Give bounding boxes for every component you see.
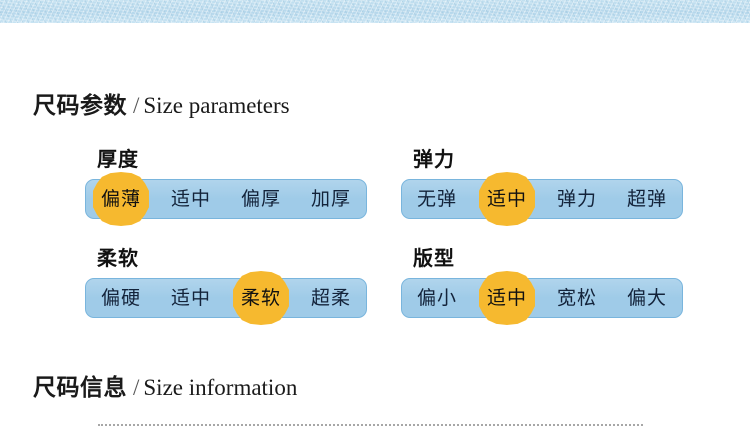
param-group-label-thickness: 厚度 <box>85 150 367 170</box>
section-divider <box>98 424 643 426</box>
section-heading-en: Size parameters <box>143 93 289 118</box>
option-bar-fit: 偏小 适中 宽松 偏大 <box>401 278 683 318</box>
option-softness-1[interactable]: 适中 <box>170 289 212 308</box>
option-fit-2[interactable]: 宽松 <box>556 289 598 308</box>
option-elasticity-2[interactable]: 弹力 <box>556 190 598 209</box>
option-bar-softness: 偏硬 适中 柔软 超柔 <box>85 278 367 318</box>
option-elasticity-0[interactable]: 无弹 <box>416 190 458 209</box>
option-bar-elasticity: 无弹 适中 弹力 超弹 <box>401 179 683 219</box>
option-thickness-0-selected[interactable]: 偏薄 <box>100 190 142 209</box>
option-elasticity-3[interactable]: 超弹 <box>626 190 668 209</box>
section-heading-size-parameters: 尺码参数/Size parameters <box>33 94 290 117</box>
option-elasticity-1-selected[interactable]: 适中 <box>486 190 528 209</box>
option-thickness-3[interactable]: 加厚 <box>310 190 352 209</box>
param-group-thickness: 厚度 偏薄 适中 偏厚 加厚 <box>85 150 367 219</box>
option-fit-0[interactable]: 偏小 <box>416 289 458 308</box>
param-group-softness: 柔软 偏硬 适中 柔软 超柔 <box>85 249 367 318</box>
param-group-fit: 版型 偏小 适中 宽松 偏大 <box>401 249 683 318</box>
param-group-elasticity: 弹力 无弹 适中 弹力 超弹 <box>401 150 683 219</box>
section-heading-separator: / <box>127 375 143 400</box>
option-softness-3[interactable]: 超柔 <box>310 289 352 308</box>
param-group-label-softness: 柔软 <box>85 249 367 269</box>
option-fit-3[interactable]: 偏大 <box>626 289 668 308</box>
section-heading-separator: / <box>127 93 143 118</box>
option-thickness-1[interactable]: 适中 <box>170 190 212 209</box>
section-heading-cn: 尺码信息 <box>33 374 127 400</box>
section-heading-en: Size information <box>143 375 297 400</box>
section-heading-cn: 尺码参数 <box>33 92 127 118</box>
param-group-label-elasticity: 弹力 <box>401 150 683 170</box>
param-group-label-fit: 版型 <box>401 249 683 269</box>
option-thickness-2[interactable]: 偏厚 <box>240 190 282 209</box>
option-softness-2-selected[interactable]: 柔软 <box>240 289 282 308</box>
decorative-top-band <box>0 0 750 23</box>
option-fit-1-selected[interactable]: 适中 <box>486 289 528 308</box>
section-heading-size-information: 尺码信息/Size information <box>33 376 297 399</box>
option-bar-thickness: 偏薄 适中 偏厚 加厚 <box>85 179 367 219</box>
option-softness-0[interactable]: 偏硬 <box>100 289 142 308</box>
